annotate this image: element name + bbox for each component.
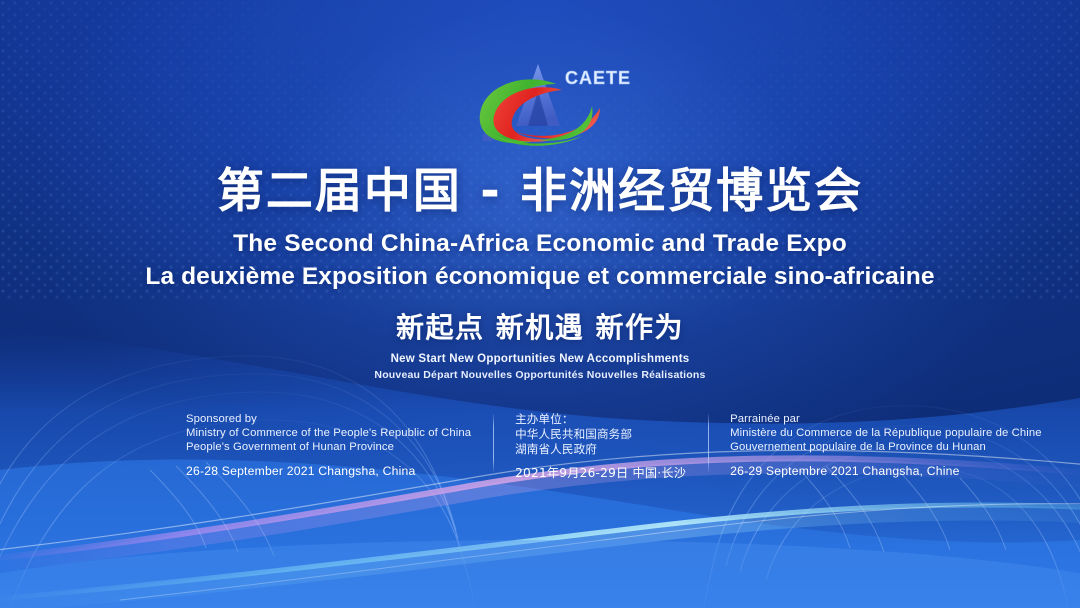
caete-logo-svg: CAETE [450, 44, 630, 152]
event-date-french: 26-29 Septembre 2021 Changsha, Chine [730, 464, 1042, 479]
title-english: The Second China-Africa Economic and Tra… [0, 230, 1080, 258]
slogan-block: 新起点 新机遇 新作为 New Start New Opportunities … [0, 306, 1080, 381]
sponsor-org-1: Ministry of Commerce of the People's Rep… [186, 426, 471, 440]
slogan-chinese: 新起点 新机遇 新作为 [0, 306, 1080, 346]
sponsor-org-1: 中华人民共和国商务部 [515, 427, 686, 442]
sponsor-heading: 主办单位： [515, 412, 686, 427]
sponsor-heading: Parrainée par [730, 412, 1042, 426]
sponsor-org-2: Gouvernement populaire de la Province du… [730, 440, 1042, 454]
sponsor-org-1: Ministère du Commerce de la République p… [730, 426, 1042, 440]
caete-logo: CAETE [450, 44, 630, 152]
sponsor-column-english: Sponsored by Ministry of Commerce of the… [186, 412, 493, 479]
logo-wordmark: CAETE [565, 68, 631, 88]
poster-canvas: CAETE 第二届中国 - 非洲经贸博览会 The Second China-A… [0, 0, 1080, 608]
sponsor-column-chinese: 主办单位： 中华人民共和国商务部 湖南省人民政府 2021年9月26-29日 中… [493, 412, 708, 481]
event-date-chinese: 2021年9月26-29日 中国·长沙 [515, 466, 686, 481]
sponsor-footer: Sponsored by Ministry of Commerce of the… [186, 412, 1064, 481]
sponsor-heading: Sponsored by [186, 412, 471, 426]
sponsor-org-2: People's Government of Hunan Province [186, 440, 471, 454]
title-french: La deuxième Exposition économique et com… [0, 263, 1080, 291]
sponsor-org-2: 湖南省人民政府 [515, 442, 686, 457]
title-chinese: 第二届中国 - 非洲经贸博览会 [0, 168, 1080, 217]
title-block: 第二届中国 - 非洲经贸博览会 The Second China-Africa … [0, 168, 1080, 291]
slogan-english: New Start New Opportunities New Accompli… [0, 353, 1080, 365]
event-date-english: 26-28 September 2021 Changsha, China [186, 464, 471, 479]
sponsor-column-french: Parrainée par Ministère du Commerce de l… [708, 412, 1064, 479]
slogan-french: Nouveau Départ Nouvelles Opportunités No… [0, 369, 1080, 381]
